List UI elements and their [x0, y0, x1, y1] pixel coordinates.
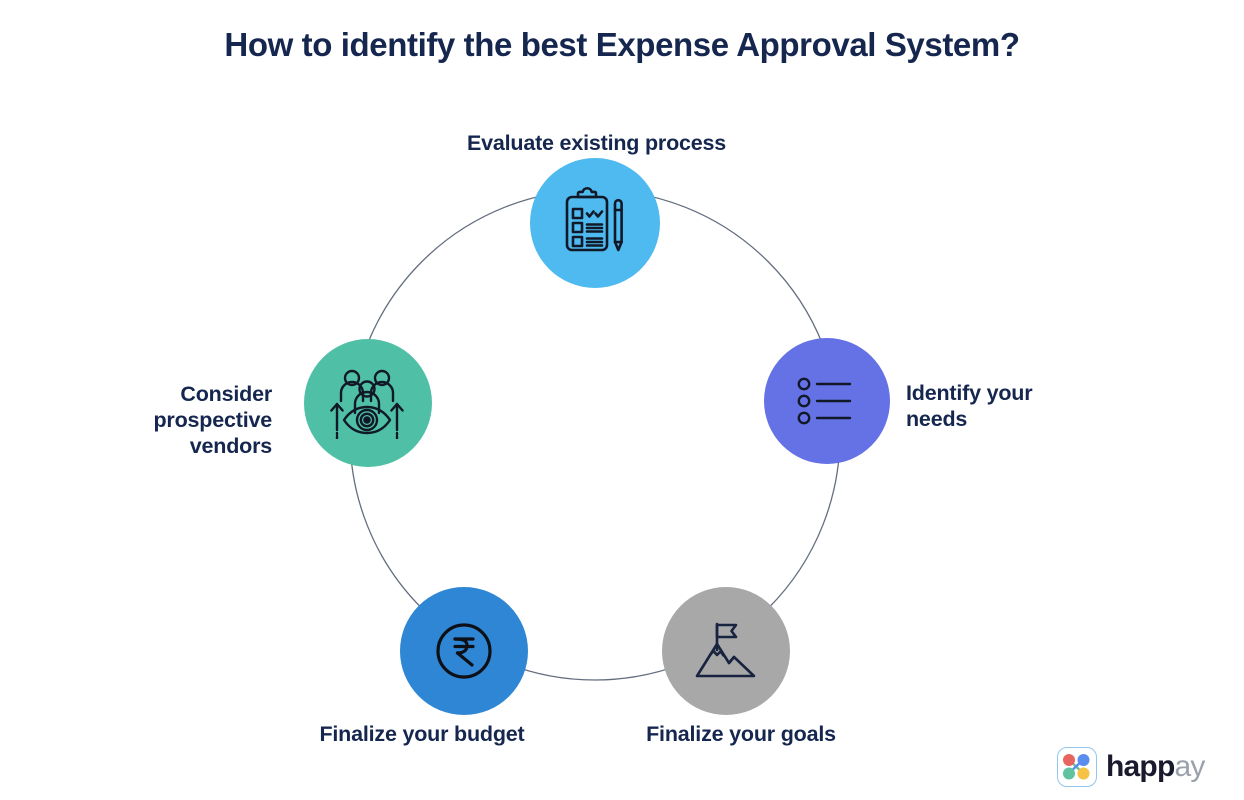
wordmark-part-2: pp	[1139, 750, 1174, 783]
rupee-coin-icon	[433, 620, 495, 682]
happay-wordmark: happay	[1106, 752, 1205, 782]
wordmark-part-1: ha	[1106, 750, 1139, 783]
node-label-finalize-your-goals: Finalize your goals	[541, 721, 941, 747]
people-eye-research-icon	[330, 367, 406, 439]
mountain-flag-icon	[693, 620, 759, 682]
node-label-identify-your-needs: Identify your needs	[906, 380, 1106, 432]
node-label-evaluate-existing-process: Evaluate existing process	[0, 130, 1193, 156]
four-dots-network-icon	[1057, 747, 1097, 787]
node-consider-prospective-vendors[interactable]	[304, 339, 432, 467]
label-line-3: vendors	[190, 434, 272, 458]
wordmark-part-3: ay	[1174, 750, 1204, 783]
label-line-2: needs	[906, 407, 967, 431]
node-identify-your-needs[interactable]	[764, 338, 890, 464]
node-label-consider-prospective-vendors: Consider prospective vendors	[60, 381, 272, 459]
bulleted-list-icon	[796, 375, 858, 427]
happay-logo: happay	[1057, 747, 1205, 787]
infographic-canvas: How to identify the best Expense Approva…	[0, 0, 1244, 800]
clipboard-checklist-pen-icon	[558, 186, 632, 260]
node-evaluate-existing-process[interactable]	[530, 158, 660, 288]
label-line-2: prospective	[154, 408, 273, 432]
page-title: How to identify the best Expense Approva…	[0, 26, 1244, 64]
node-finalize-your-budget[interactable]	[400, 587, 528, 715]
node-finalize-your-goals[interactable]	[662, 587, 790, 715]
label-line-1: Identify your	[906, 381, 1032, 405]
label-line-1: Consider	[180, 382, 272, 406]
